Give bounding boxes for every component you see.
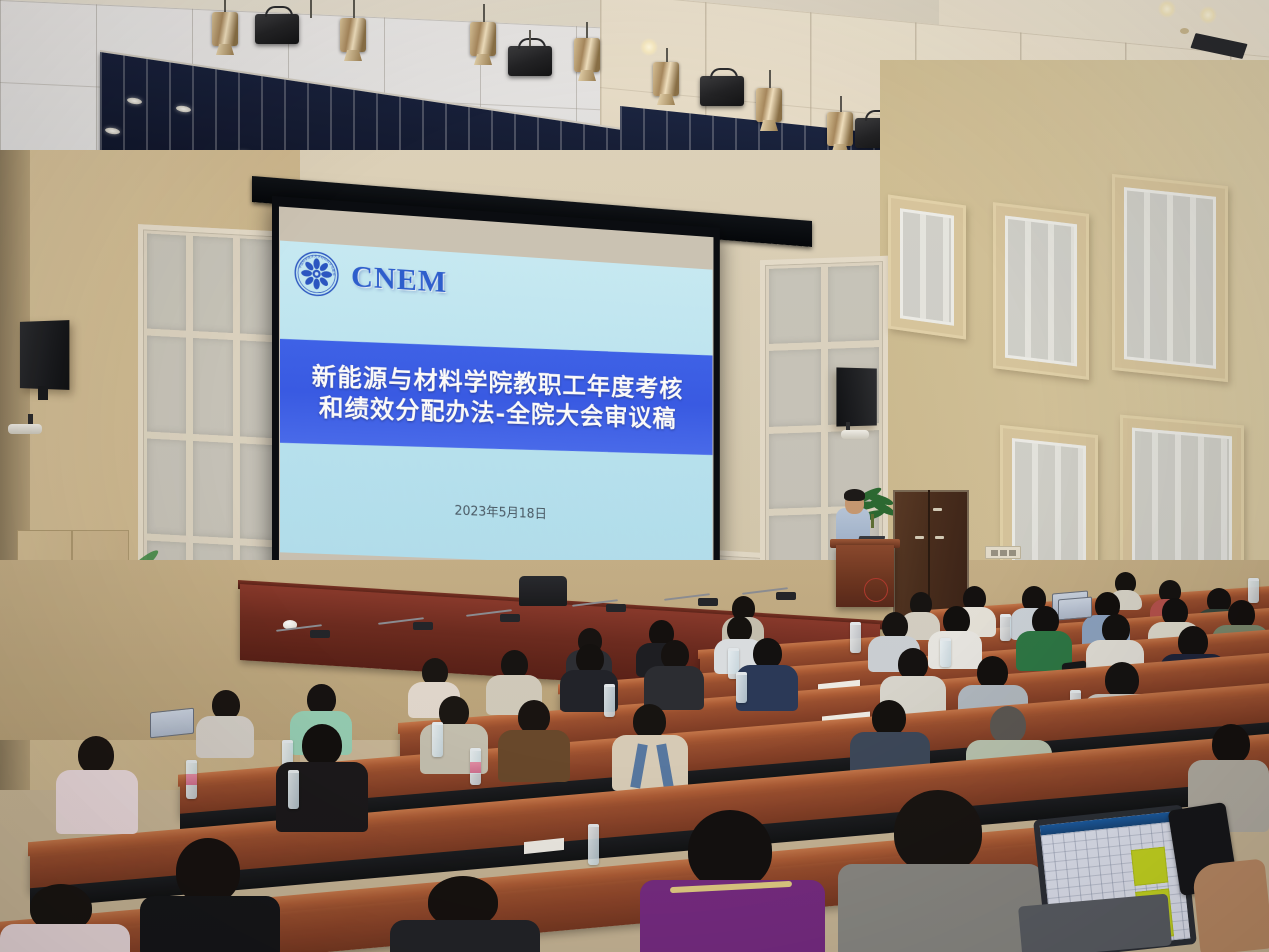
audience-person — [0, 884, 130, 952]
speaker-left-icon — [20, 320, 69, 390]
stage-light-par-icon — [574, 38, 600, 72]
audience-person — [56, 736, 138, 832]
wall-panel-frame — [1112, 174, 1228, 382]
water-bottle — [288, 770, 299, 809]
stage-light-fresnel-icon — [700, 76, 744, 106]
door-plate-icon — [933, 508, 942, 511]
wall-panel-frame — [993, 202, 1089, 380]
microphone-base — [776, 592, 796, 600]
door-handle-icon[interactable] — [915, 536, 924, 539]
microphone-base — [698, 598, 718, 606]
audience-person — [196, 690, 254, 754]
presiding-chair — [519, 576, 567, 606]
audience-person — [612, 704, 688, 790]
stage-light-par-icon — [212, 12, 238, 46]
stage-light-par-icon — [470, 22, 496, 56]
slide-title-band: 新能源与材料学院教职工年度考核 和绩效分配办法-全院大会审议稿 — [280, 339, 713, 455]
water-bottle — [432, 722, 443, 757]
projection-screen: 中国科学技术大学材料科学与能源学院 CNEM 新能源与材料学院教职工年度考核 和… — [272, 196, 720, 611]
speaker-right-icon — [836, 367, 876, 426]
cnem-emblem-icon: 中国科学技术大学材料科学与能源学院 — [294, 249, 339, 298]
door-handle-icon[interactable] — [935, 536, 944, 539]
presentation-slide: 中国科学技术大学材料科学与能源学院 CNEM 新能源与材料学院教职工年度考核 和… — [280, 241, 713, 569]
presenter-hair — [844, 489, 865, 501]
water-bottle — [588, 824, 599, 865]
slide-date: 2023年5月18日 — [280, 492, 713, 529]
wall-outlets[interactable] — [985, 546, 1021, 559]
microphone-base — [413, 622, 433, 630]
slide-wordmark: CNEM — [351, 258, 447, 300]
highlighted-cells — [1131, 847, 1169, 886]
speaker-mount-left — [38, 386, 48, 400]
lectern — [836, 545, 894, 607]
stage-light-fresnel-icon — [508, 46, 552, 76]
water-bottle — [186, 760, 197, 799]
smoke-detector-icon — [1180, 28, 1189, 34]
water-bottle — [850, 622, 861, 653]
microphone-base — [310, 630, 330, 638]
audience-person — [640, 810, 825, 952]
stage-light-par-icon — [756, 88, 782, 122]
water-bottle — [1000, 614, 1011, 641]
hand — [1191, 858, 1269, 952]
security-camera-right-icon — [841, 430, 869, 439]
microphone-base — [500, 614, 520, 622]
audience-person — [838, 790, 1043, 952]
water-bottle — [470, 748, 481, 785]
audience-person — [390, 876, 540, 952]
slide-logo-row: 中国科学技术大学材料科学与能源学院 CNEM — [294, 249, 447, 304]
wall-panel-frame — [888, 195, 966, 340]
security-camera-left-icon — [8, 424, 42, 434]
water-bottle — [736, 672, 747, 703]
audience-person — [140, 838, 280, 952]
audience-person — [498, 700, 570, 780]
stage-light-fresnel-icon — [255, 14, 299, 44]
auditorium-photo: 中国科学技术大学材料科学与能源学院 CNEM 新能源与材料学院教职工年度考核 和… — [0, 0, 1269, 952]
laptop[interactable] — [150, 708, 194, 739]
stage-light-par-icon — [827, 112, 853, 146]
stage-light-par-icon — [653, 62, 679, 96]
audience-person — [644, 640, 704, 706]
lectern-emblem-icon — [864, 578, 888, 602]
microphone-base — [606, 604, 626, 612]
stage-light-par-icon — [340, 18, 366, 52]
